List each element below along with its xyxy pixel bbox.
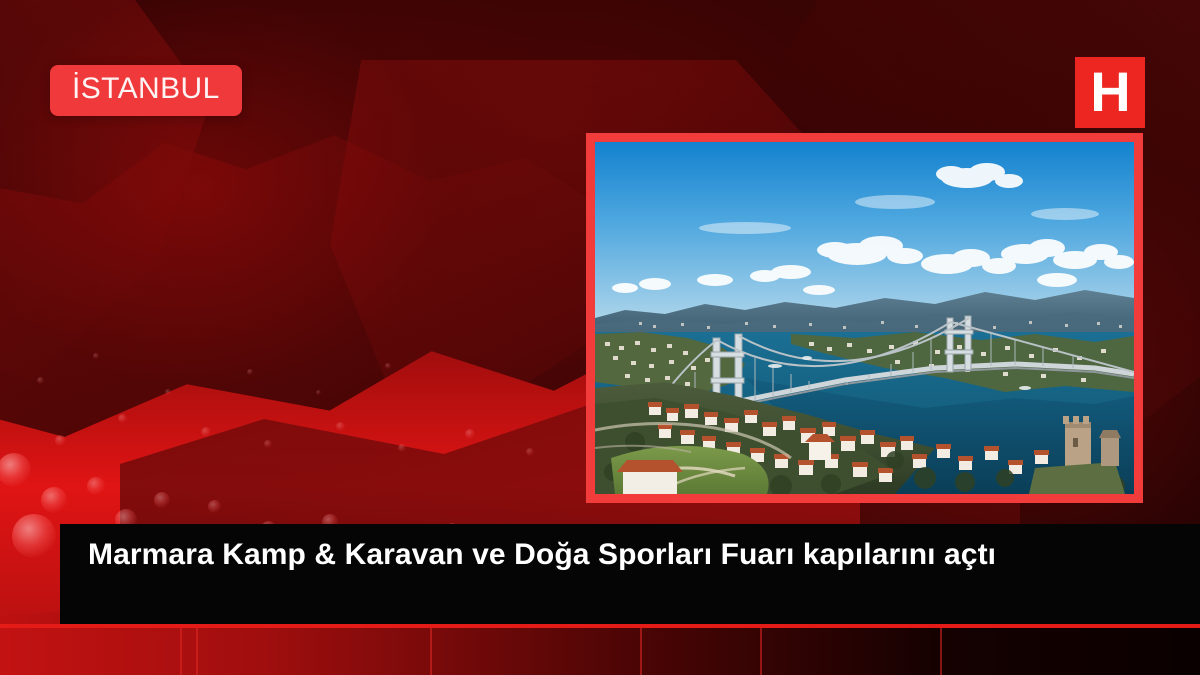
- brand-logo[interactable]: H: [1075, 57, 1145, 128]
- article-headline: Marmara Kamp & Karavan ve Doğa Sporları …: [88, 536, 1174, 573]
- city-badge: İSTANBUL: [50, 65, 242, 116]
- photo-frame: [586, 133, 1143, 503]
- bottom-band: [0, 628, 1200, 675]
- news-card: İSTANBUL H: [0, 0, 1200, 675]
- photo-illustration: [595, 142, 1134, 494]
- article-photo: [595, 142, 1134, 494]
- logo-h-icon: H: [1090, 64, 1129, 120]
- headline-bar: Marmara Kamp & Karavan ve Doğa Sporları …: [60, 524, 1200, 625]
